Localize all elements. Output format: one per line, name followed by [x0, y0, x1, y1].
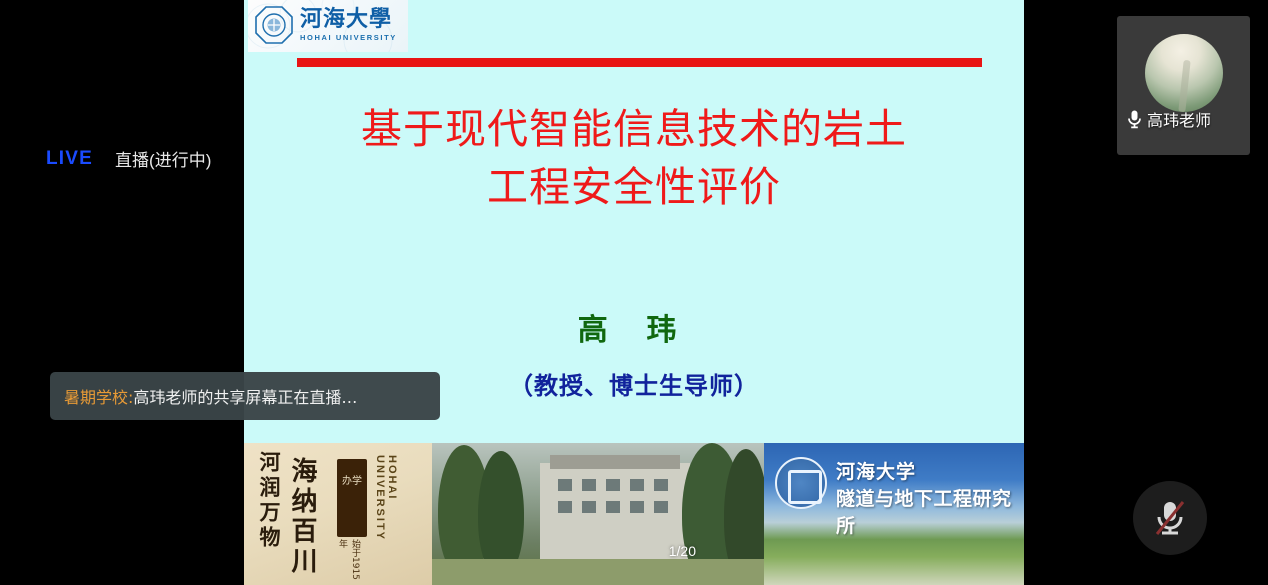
logo-chinese-name: 河海大學: [300, 8, 397, 30]
institute-emblem-icon: [775, 457, 827, 509]
toast-prefix: 暑期学校:: [64, 384, 133, 408]
participant-avatar: [1145, 34, 1223, 112]
institute-banner: 河海大学 隧道与地下工程研究所: [764, 443, 1024, 585]
calligraphy-panel: 河润万物 海纳百川 办学 始于1915年 HOHAI UNIVERSITY: [244, 443, 432, 585]
calligraphy-english-name: HOHAI UNIVERSITY: [374, 455, 398, 585]
microphone-muted-icon: [1153, 498, 1187, 538]
calligraphy-column-left: 海纳百川: [284, 457, 321, 577]
logo-english-name: HOHAI UNIVERSITY: [300, 33, 397, 42]
calligraphy-founding-year: 始于1915年: [336, 539, 362, 585]
presentation-slide: 河海大學 HOHAI UNIVERSITY 基于现代智能信息技术的岩土 工程安全…: [244, 0, 1024, 585]
institute-university-name: 河海大学: [836, 457, 916, 484]
hohai-emblem-icon: [254, 5, 294, 45]
slide-title-line-1: 基于现代智能信息技术的岩土: [264, 100, 1004, 158]
shared-screen-area[interactable]: 河海大學 HOHAI UNIVERSITY 基于现代智能信息技术的岩土 工程安全…: [244, 0, 1024, 585]
institute-department-name: 隧道与地下工程研究所: [836, 484, 1024, 538]
page-indicator: 1/20: [669, 543, 696, 559]
live-status-text: 直播(进行中): [115, 146, 211, 171]
mute-microphone-button[interactable]: [1133, 481, 1207, 555]
slide-title-line-2: 工程安全性评价: [264, 158, 1004, 216]
live-badge: LIVE: [46, 148, 93, 170]
title-divider-rule: [297, 58, 982, 67]
calligraphy-seal-icon: 办学: [337, 459, 367, 537]
slide-title: 基于现代智能信息技术的岩土 工程安全性评价: [264, 100, 1004, 216]
seal-text: 办学: [337, 472, 367, 491]
live-indicator: LIVE 直播(进行中): [46, 146, 211, 171]
microphone-icon: [1126, 109, 1143, 129]
hohai-university-logo: 河海大學 HOHAI UNIVERSITY: [248, 0, 408, 52]
toast-message: 高玮老师的共享屏幕正在直播…: [133, 384, 357, 408]
participant-name: 高玮老师: [1147, 107, 1211, 131]
screen-share-toast: 暑期学校: 高玮老师的共享屏幕正在直播…: [50, 372, 440, 420]
slide-author-name: 高 玮: [264, 305, 1004, 349]
calligraphy-column-right: 河润万物: [254, 451, 284, 551]
participant-footer: 高玮老师: [1117, 107, 1250, 131]
slide-footer-images: 河润万物 海纳百川 办学 始于1915年 HOHAI UNIVERSITY: [244, 443, 1024, 585]
campus-photo: 1/20: [432, 443, 764, 585]
participant-video-tile[interactable]: 高玮老师: [1117, 16, 1250, 155]
